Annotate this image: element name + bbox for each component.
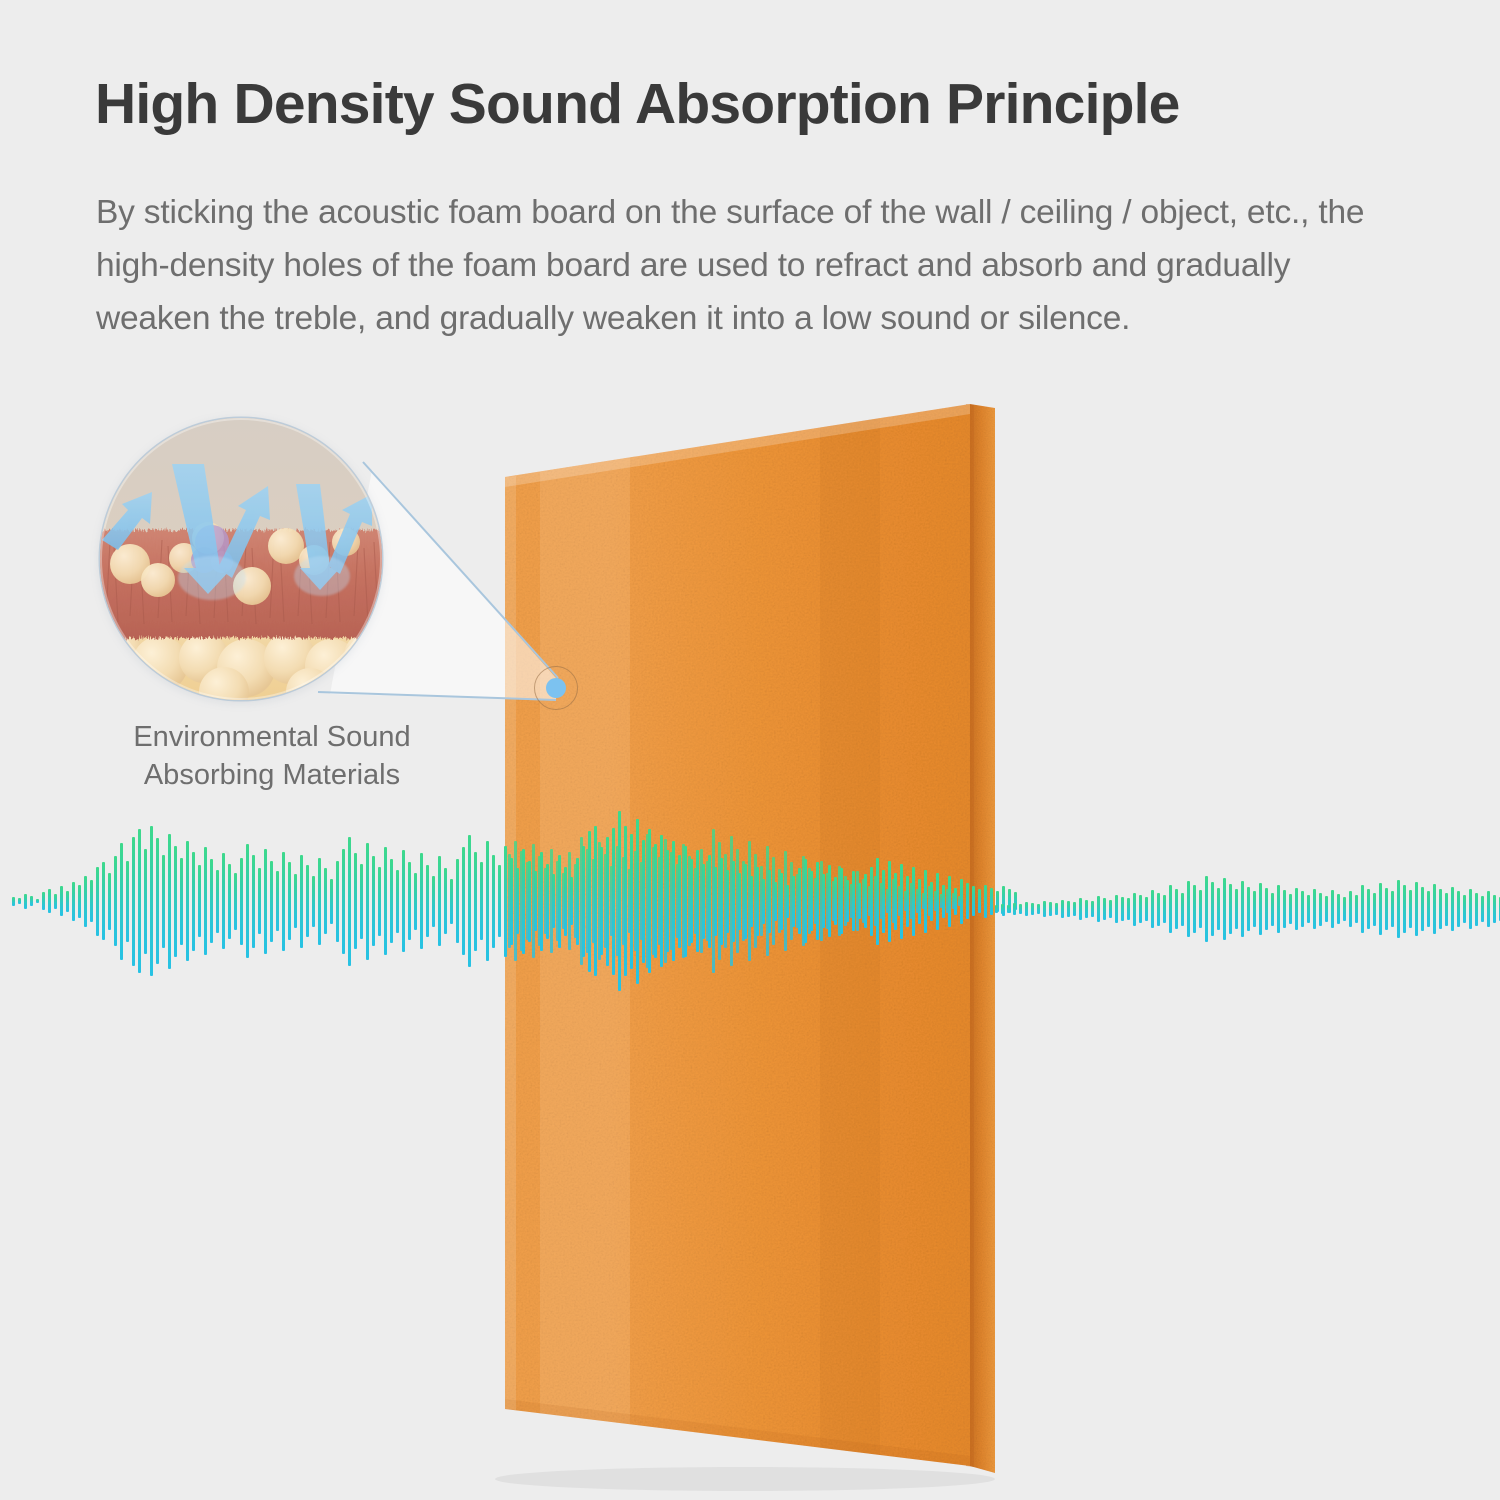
magnifier-circle	[100, 418, 382, 700]
infographic-page: High Density Sound Absorption Principle …	[0, 0, 1500, 1500]
caption-line-1: Environmental Sound	[62, 718, 482, 756]
magnified-material-illustration	[100, 418, 382, 700]
hotspot-dot-icon	[546, 678, 566, 698]
caption-line-2: Absorbing Materials	[62, 756, 482, 794]
callout-caption: Environmental Sound Absorbing Materials	[62, 718, 482, 794]
callout-hotspot[interactable]	[534, 666, 578, 710]
